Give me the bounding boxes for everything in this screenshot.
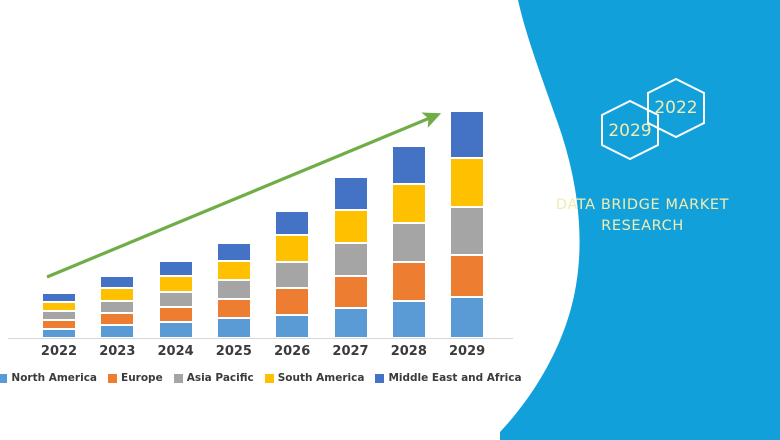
x-axis-tick-labels: 20222023202420252026202720282029 [0, 344, 520, 368]
bar-segment-2026-middle-east-and-africa [275, 211, 309, 235]
bar-segment-2022-europe [42, 320, 76, 329]
bar-segment-2027-europe [334, 276, 368, 308]
bar-2028[interactable] [392, 146, 426, 338]
bar-segment-2028-asia-pacific [392, 223, 426, 262]
legend-label-north-america: North America [11, 372, 97, 384]
legend-item-asia-pacific[interactable]: Asia Pacific [174, 372, 254, 384]
brand-name-line2: RESEARCH [530, 216, 755, 237]
bar-segment-2025-europe [217, 299, 251, 318]
chart-legend: North AmericaEuropeAsia PacificSouth Ame… [0, 372, 520, 384]
bar-segment-2028-north-america [392, 301, 426, 338]
bar-2022[interactable] [42, 293, 76, 338]
bar-segment-2024-europe [159, 307, 193, 322]
bar-2027[interactable] [334, 177, 368, 338]
bar-segment-2025-south-america [217, 261, 251, 280]
legend-swatch-north-america [0, 374, 7, 383]
brand-logo: 2022 2029 [580, 75, 720, 165]
bar-segment-2024-south-america [159, 276, 193, 292]
bar-segment-2023-europe [100, 313, 134, 325]
brand-name-line1: DATA BRIDGE MARKET [556, 197, 729, 213]
bar-segment-2029-europe [450, 255, 484, 297]
bar-segment-2025-north-america [217, 318, 251, 338]
plot-area [0, 0, 520, 340]
brand-name: DATA BRIDGE MARKET RESEARCH [530, 195, 755, 237]
bar-segment-2029-south-america [450, 158, 484, 207]
bar-segment-2024-north-america [159, 322, 193, 338]
x-tick-label-2028: 2028 [379, 344, 439, 359]
bar-segment-2025-asia-pacific [217, 280, 251, 299]
bar-segment-2026-south-america [275, 235, 309, 262]
legend-swatch-south-america [265, 374, 274, 383]
bar-segment-2023-asia-pacific [100, 301, 134, 313]
x-tick-label-2024: 2024 [146, 344, 206, 359]
bar-segment-2026-asia-pacific [275, 262, 309, 288]
growth-trend-arrow [0, 0, 520, 340]
legend-item-europe[interactable]: Europe [108, 372, 163, 384]
x-tick-label-2026: 2026 [262, 344, 322, 359]
bar-2023[interactable] [100, 276, 134, 338]
stacked-bar-chart: 20222023202420252026202720282029 North A… [0, 0, 520, 440]
bar-segment-2028-europe [392, 262, 426, 301]
bar-segment-2026-north-america [275, 315, 309, 338]
chart-screenshot: 20222023202420252026202720282029 North A… [0, 0, 780, 440]
bar-segment-2029-north-america [450, 297, 484, 338]
bar-segment-2023-north-america [100, 325, 134, 338]
bar-segment-2027-middle-east-and-africa [334, 177, 368, 210]
bar-segment-2028-middle-east-and-africa [392, 146, 426, 184]
bar-2024[interactable] [159, 261, 193, 338]
bar-segment-2029-asia-pacific [450, 207, 484, 255]
legend-swatch-europe [108, 374, 117, 383]
bar-segment-2025-middle-east-and-africa [217, 243, 251, 261]
bar-segment-2022-asia-pacific [42, 311, 76, 320]
bar-segment-2028-south-america [392, 184, 426, 223]
x-tick-label-2029: 2029 [437, 344, 497, 359]
bar-segment-2022-north-america [42, 329, 76, 338]
x-axis-line [8, 338, 513, 339]
bar-segment-2024-asia-pacific [159, 292, 193, 307]
bar-segment-2029-middle-east-and-africa [450, 111, 484, 158]
bar-segment-2026-europe [275, 288, 309, 315]
x-tick-label-2022: 2022 [29, 344, 89, 359]
bar-segment-2022-south-america [42, 302, 76, 311]
bar-segment-2023-middle-east-and-africa [100, 276, 134, 288]
legend-label-south-america: South America [278, 372, 365, 384]
svg-text:2022: 2022 [654, 98, 697, 118]
legend-swatch-asia-pacific [174, 374, 183, 383]
x-tick-label-2023: 2023 [87, 344, 147, 359]
bar-2025[interactable] [217, 243, 251, 338]
bar-2026[interactable] [275, 211, 309, 338]
x-tick-label-2027: 2027 [321, 344, 381, 359]
legend-label-europe: Europe [121, 372, 163, 384]
bar-segment-2027-south-america [334, 210, 368, 243]
bar-segment-2024-middle-east-and-africa [159, 261, 193, 276]
legend-label-asia-pacific: Asia Pacific [187, 372, 254, 384]
legend-item-south-america[interactable]: South America [265, 372, 365, 384]
legend-item-north-america[interactable]: North America [0, 372, 97, 384]
bar-segment-2022-middle-east-and-africa [42, 293, 76, 302]
bar-segment-2027-asia-pacific [334, 243, 368, 276]
x-tick-label-2025: 2025 [204, 344, 264, 359]
legend-swatch-middle-east-and-africa [375, 374, 384, 383]
brand-panel: 2022 2029 DATA BRIDGE MARKET RESEARCH [500, 0, 780, 440]
bar-segment-2027-north-america [334, 308, 368, 338]
bar-segment-2023-south-america [100, 288, 134, 301]
svg-text:2029: 2029 [608, 121, 651, 141]
hexagon-logo-icon: 2022 2029 [580, 75, 720, 165]
bar-2029[interactable] [450, 111, 484, 338]
